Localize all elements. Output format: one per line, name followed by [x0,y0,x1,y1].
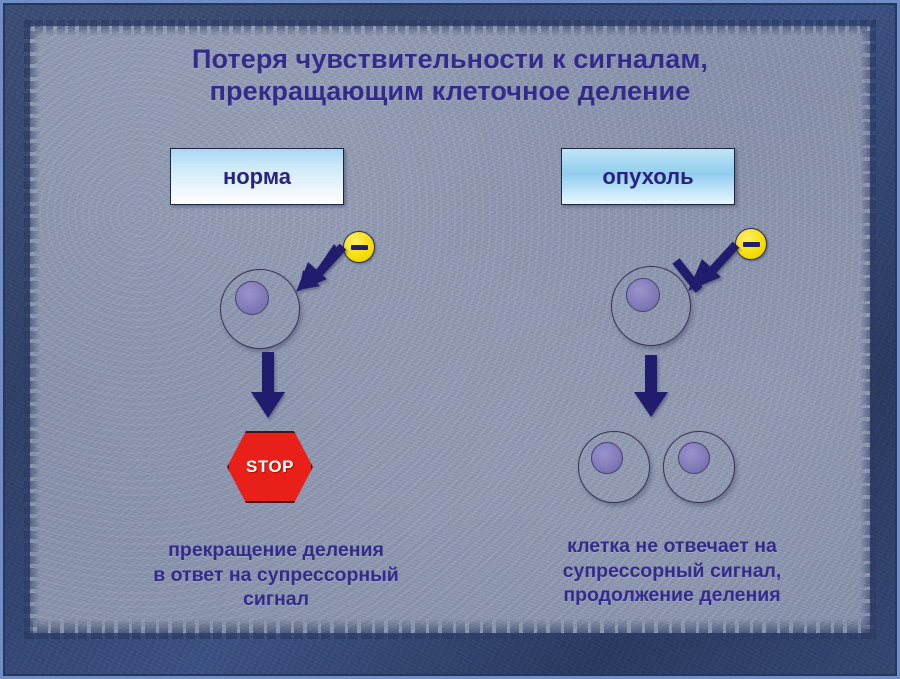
caption-normal: прекращение деления в ответ на супрессор… [96,538,456,612]
caption-tumor-line-1: клетка не отвечает на [492,534,852,559]
caption-tumor: клетка не отвечает на супрессорный сигна… [492,534,852,608]
caption-tumor-line-3: продолжение деления [492,583,852,608]
caption-normal-line-1: прекращение деления [96,538,456,563]
caption-normal-line-2: в ответ на супрессорный [96,563,456,588]
caption-layer: прекращение деления в ответ на супрессор… [0,0,900,679]
caption-tumor-line-2: супрессорный сигнал, [492,559,852,584]
slide-canvas: Потеря чувствительности к сигналам, прек… [0,0,900,679]
caption-normal-line-3: сигнал [96,587,456,612]
